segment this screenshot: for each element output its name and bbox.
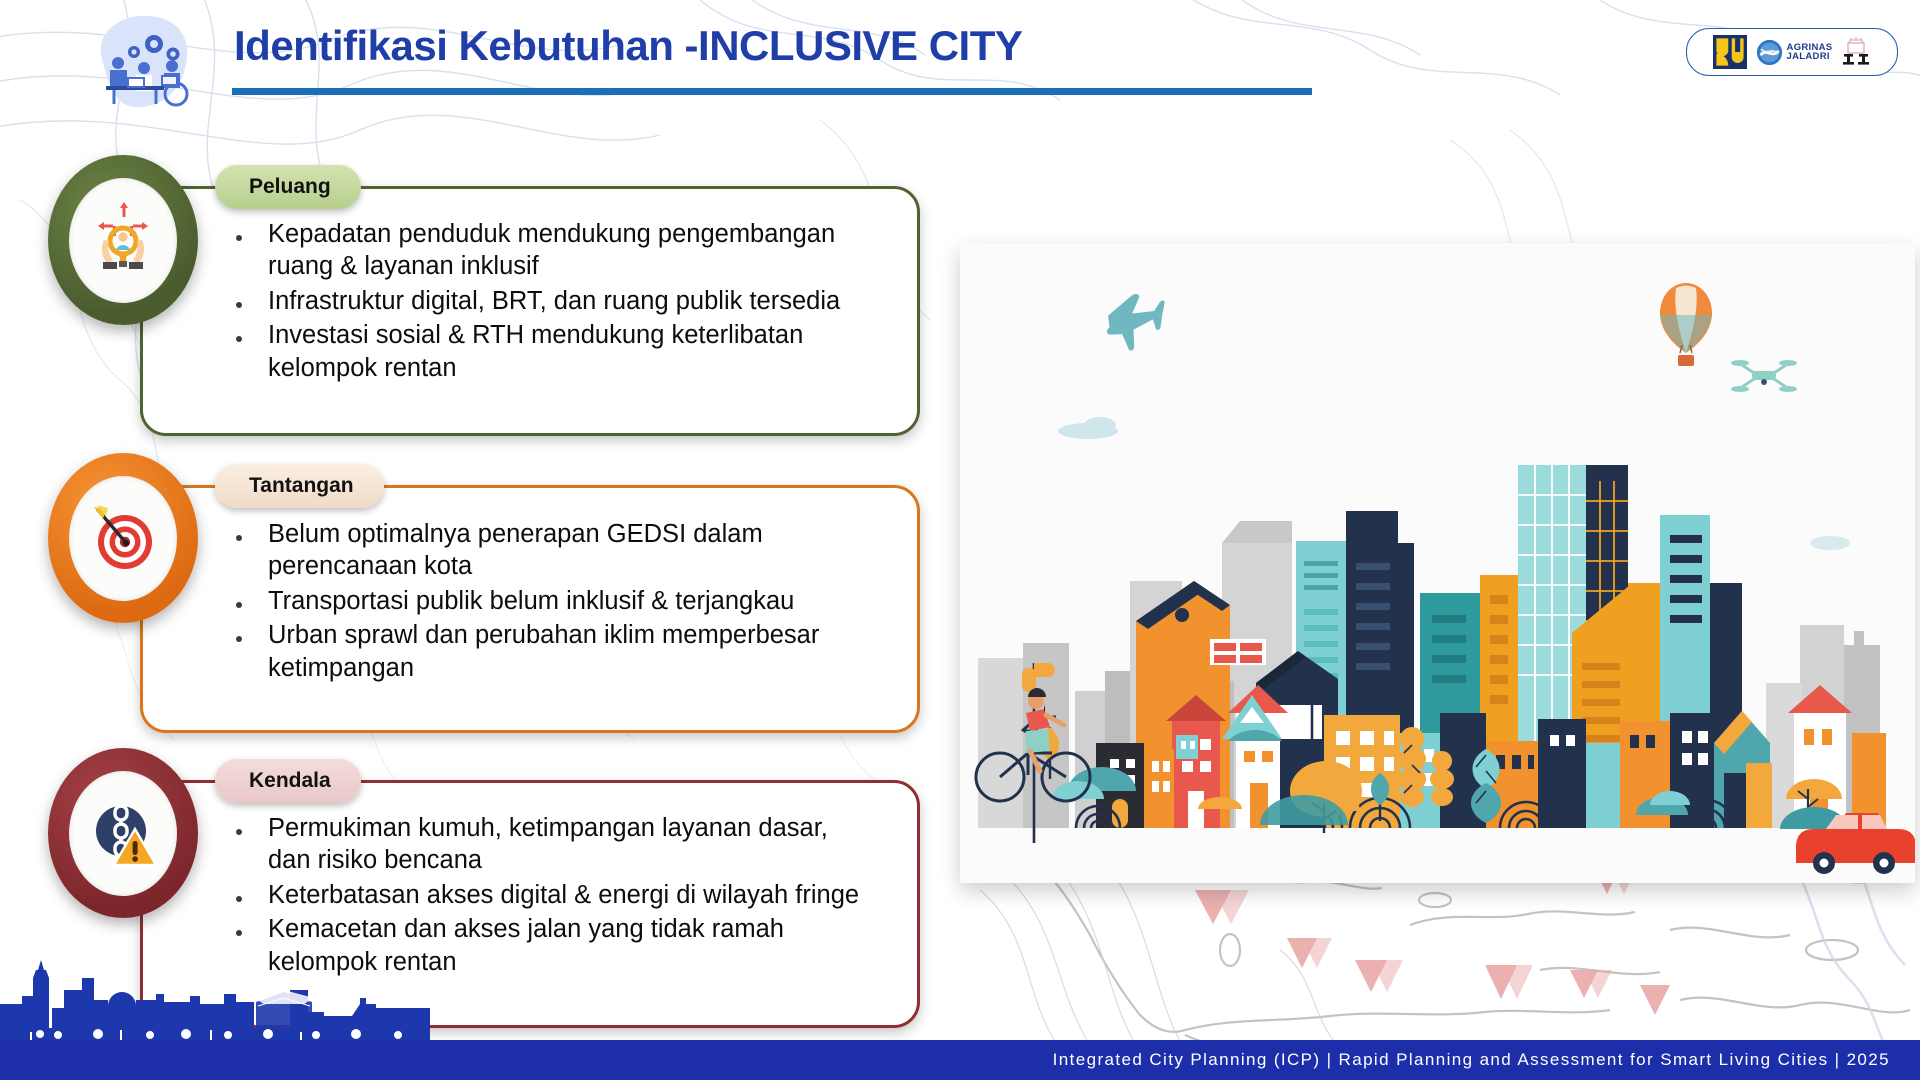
- list-item: Transportasi publik belum inklusif & ter…: [222, 585, 862, 617]
- list-item: Kemacetan dan akses jalan yang tidak ram…: [222, 913, 862, 978]
- card-peluang-pill[interactable]: Peluang: [215, 165, 361, 209]
- list-item: Investasi sosial & RTH mendukung keterli…: [222, 319, 862, 384]
- flat-smart-city-illustration: [960, 243, 1915, 883]
- target-dartboard-icon: [83, 498, 163, 578]
- monument-logo: [1841, 36, 1871, 68]
- small-clouds: [1810, 536, 1850, 550]
- brand-logo-bar: AGRINAS JALADRI: [1686, 28, 1898, 76]
- card-tantangan-pill[interactable]: Tantangan: [215, 464, 384, 508]
- agrinas-jaladri-logo: AGRINAS JALADRI: [1756, 39, 1833, 66]
- card-kendala-bullets: Permukiman kumuh, ketimpangan layanan da…: [222, 812, 862, 980]
- kementerian-pu-logo: [1713, 35, 1747, 69]
- card-peluang-bullets: Kepadatan penduduk mendukung pengembanga…: [222, 218, 862, 386]
- list-item: Infrastruktur digital, BRT, dan ruang pu…: [222, 285, 862, 317]
- card-kendala-label: Kendala: [249, 769, 331, 793]
- footer-text: Integrated City Planning (ICP) | Rapid P…: [1053, 1050, 1920, 1070]
- inclusive-team-icon: [88, 12, 196, 112]
- list-item: Belum optimalnya penerapan GEDSI dalam p…: [222, 518, 862, 583]
- list-item: Keterbatasan akses digital & energi di w…: [222, 879, 862, 911]
- card-peluang-label: Peluang: [249, 175, 331, 199]
- title-underline: [232, 88, 1312, 95]
- card-tantangan-icon-badge: [48, 453, 198, 623]
- page-header: Identifikasi Kebutuhan -INCLUSIVE CITY A…: [0, 0, 1920, 110]
- footer-bar: Integrated City Planning (ICP) | Rapid P…: [0, 1040, 1920, 1080]
- card-kendala-icon-badge: [48, 748, 198, 918]
- card-kendala-pill[interactable]: Kendala: [215, 759, 361, 803]
- card-peluang-icon-badge: [48, 155, 198, 325]
- jaladri-label: JALADRI: [1787, 52, 1833, 61]
- lightbulb-in-hands-icon: [83, 200, 163, 280]
- card-tantangan-label: Tantangan: [249, 474, 354, 498]
- page-title: Identifikasi Kebutuhan -INCLUSIVE CITY: [234, 22, 1022, 70]
- list-item: Permukiman kumuh, ketimpangan layanan da…: [222, 812, 862, 877]
- list-item: Urban sprawl dan perubahan iklim memperb…: [222, 619, 862, 684]
- location-pin-icon: [1195, 860, 1670, 1015]
- card-tantangan-bullets: Belum optimalnya penerapan GEDSI dalam p…: [222, 518, 862, 686]
- chain-warning-icon: [83, 793, 163, 873]
- list-item: Kepadatan penduduk mendukung pengembanga…: [222, 218, 862, 283]
